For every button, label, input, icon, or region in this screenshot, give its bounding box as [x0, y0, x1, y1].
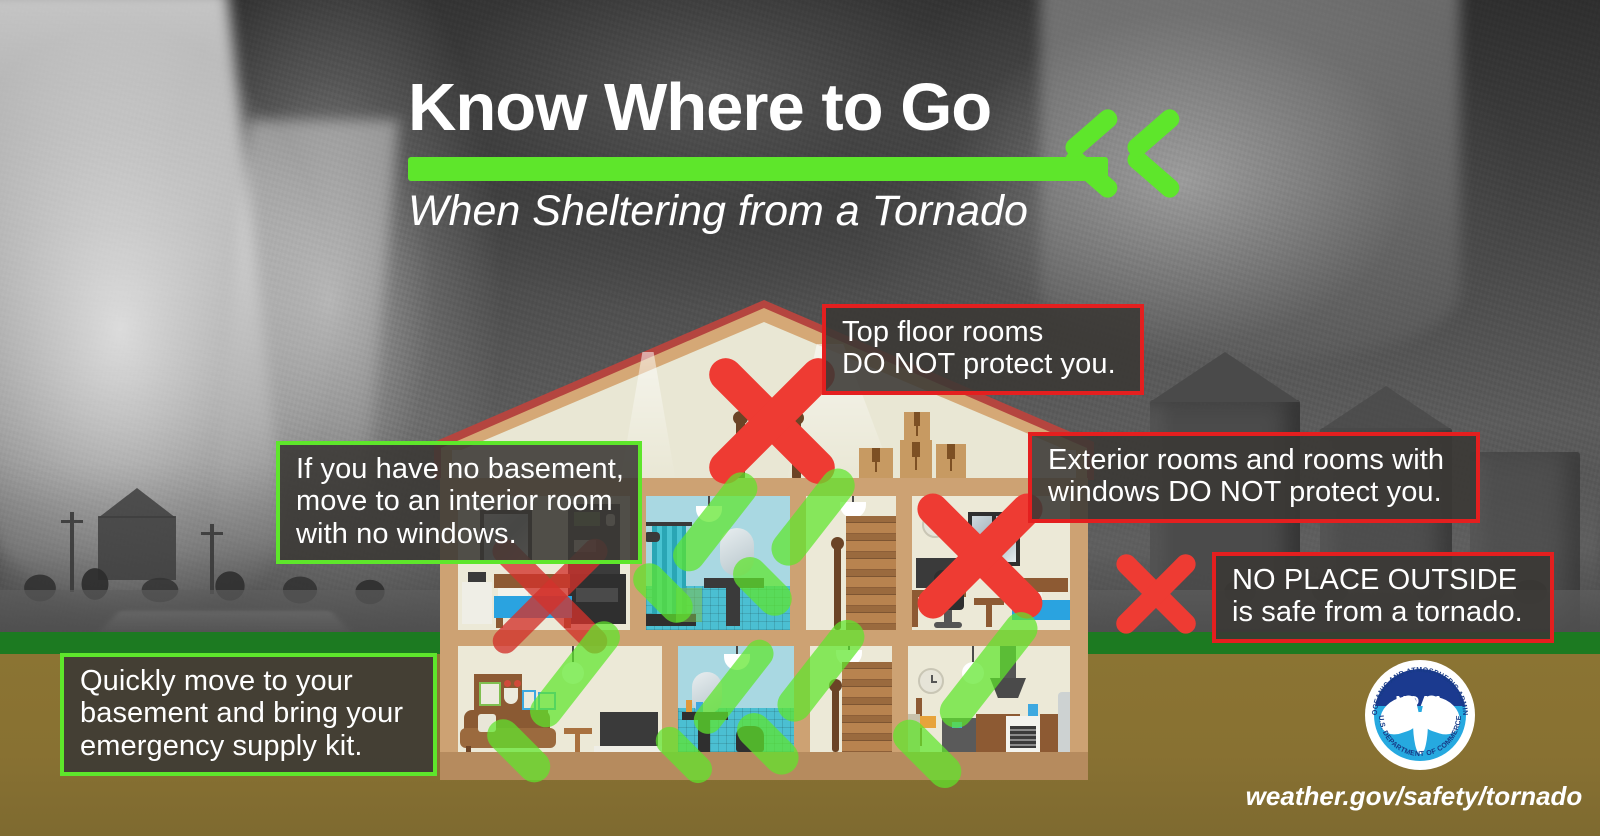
background-farmhouse-roof — [98, 488, 176, 518]
wall-divider-lower-1 — [662, 646, 678, 752]
callout-no-basement-line-3: with no windows. — [296, 518, 624, 550]
room-basement-living — [458, 646, 670, 752]
callout-no-basement-line-2: move to an interior room — [296, 485, 624, 517]
attic-post-2 — [792, 418, 801, 480]
living-flower-right — [514, 680, 521, 687]
storage-box-4 — [936, 444, 966, 478]
storage-box-2 — [900, 440, 932, 478]
living-flower-left — [504, 680, 511, 687]
bed-leg-right — [564, 618, 571, 628]
callout-quickly-line-2: basement and bring your — [80, 697, 419, 729]
callout-no-place-outside: NO PLACE OUTSIDE is safe from a tornado. — [1212, 552, 1554, 643]
callout-top-floor-rooms: Top floor rooms DO NOT protect you. — [822, 304, 1144, 395]
callout-exterior-line-1: Exterior rooms and rooms with — [1048, 444, 1462, 476]
callout-top-floor-line-1: Top floor rooms — [842, 316, 1126, 348]
callout-quickly-move: Quickly move to your basement and bring … — [60, 653, 437, 776]
attic-post-1-knob — [733, 411, 748, 425]
office-side-table — [974, 598, 1004, 605]
kitchen-refrigerator — [1058, 692, 1070, 752]
room-basement-bathroom — [678, 646, 798, 752]
foundation-slab — [440, 752, 1088, 780]
wall-divider-lower-3 — [892, 646, 908, 752]
room-upper-stairwell — [802, 496, 900, 630]
kitchen-oven-grill — [1010, 726, 1036, 748]
bathroom-toilet — [676, 588, 702, 622]
noaa-seal-text: NATIONAL OCEANIC AND ATMOSPHERIC ADMINIS… — [1365, 660, 1475, 770]
kitchen-ceiling-bulb — [962, 662, 984, 684]
kitchen-utensil-jar — [1028, 704, 1038, 716]
living-wall-art-canvas — [479, 682, 501, 706]
attic-post-2-knob — [789, 411, 804, 425]
grain-silo-1-roof — [1150, 352, 1300, 402]
living-sofa-cushion — [478, 714, 496, 732]
living-ceiling-bulb — [562, 662, 584, 684]
kitchen-table — [906, 714, 920, 752]
basement-bath-bottle — [686, 700, 692, 712]
infographic-canvas: Know Where to Go When Sheltering from a … — [0, 0, 1600, 836]
staircase-upper — [846, 516, 900, 630]
living-vase — [504, 688, 518, 704]
bed-headboard — [494, 574, 570, 588]
bathroom-mirror — [720, 528, 754, 576]
office-bed-headboard — [1012, 578, 1068, 592]
office-chair-wheels — [934, 622, 962, 628]
stair-newel-knob-basement — [829, 679, 842, 692]
stair-newel-post-basement — [832, 686, 839, 752]
office-desk-leg — [912, 597, 918, 627]
callout-top-floor-line-2: DO NOT protect you. — [842, 348, 1126, 380]
bedroom-nightstand — [462, 582, 492, 624]
noaa-arc-bottom-text: U.S. DEPARTMENT OF COMMERCE — [1377, 715, 1463, 758]
callout-quickly-line-3: emergency supply kit. — [80, 730, 419, 762]
wall-divider-upper-3 — [896, 496, 912, 630]
storage-box-3 — [904, 412, 930, 442]
kitchen-range-hood-duct — [1000, 646, 1016, 680]
basement-bath-counter — [682, 712, 728, 720]
noaa-arc-top-text: NATIONAL OCEANIC AND ATMOSPHERIC ADMINIS… — [1365, 660, 1469, 716]
dirt-road — [99, 611, 351, 633]
office-chair — [934, 570, 964, 610]
arrow-shaft — [408, 157, 1108, 181]
callout-exterior-rooms: Exterior rooms and rooms with windows DO… — [1028, 432, 1480, 523]
staircase-basement — [842, 662, 896, 752]
room-upper-bathroom — [646, 496, 794, 630]
noaa-logo: NOAA NATIONAL OCEANIC AND ATMOSPHERIC AD… — [1365, 660, 1475, 770]
office-side-table-leg — [986, 605, 992, 627]
bathroom-sink-pedestal — [726, 588, 740, 626]
room-basement-stairwell — [806, 646, 898, 752]
basement-bath-cup — [696, 702, 703, 712]
living-side-table-leg — [575, 734, 580, 752]
bed-mattress — [494, 596, 572, 618]
room-basement-kitchen — [906, 646, 1070, 752]
chevron-right-icon-1 — [1068, 138, 1130, 200]
basement-bath-bulb — [724, 654, 750, 670]
shower-rod — [646, 522, 692, 526]
basement-bath-toilet — [736, 726, 764, 752]
kitchen-range-hood — [990, 678, 1026, 698]
callout-outside-line-1: NO PLACE OUTSIDE — [1232, 564, 1536, 596]
bathroom-ceiling-bulb — [696, 506, 722, 522]
wall-divider-lower-2 — [794, 646, 810, 752]
dresser-drawer — [576, 588, 618, 602]
grain-silo-2-roof — [1320, 386, 1452, 430]
callout-no-basement: If you have no basement, move to an inte… — [276, 441, 642, 564]
stair-newel-knob-upper — [831, 537, 844, 550]
storage-box-1 — [859, 448, 893, 478]
site-url[interactable]: weather.gov/safety/tornado — [1244, 781, 1584, 812]
arrow-rule — [408, 147, 1198, 187]
bathroom-vanity — [704, 578, 764, 588]
header: Know Where to Go When Sheltering from a … — [408, 74, 1208, 234]
floor-slab-mid — [440, 630, 1088, 646]
stair-newel-post-upper — [834, 544, 841, 630]
office-window-mullion-h — [972, 537, 1016, 541]
nightstand-lamp — [468, 572, 486, 582]
living-sofa-seat — [460, 728, 556, 748]
kitchen-dishwasher-light — [952, 722, 962, 728]
wall-divider-upper-2 — [790, 496, 806, 630]
chevron-right-icon-2 — [1130, 138, 1192, 200]
living-photo-frame-1 — [522, 690, 536, 710]
shower-head-icon — [646, 532, 660, 542]
callout-no-basement-line-1: If you have no basement, — [296, 453, 624, 485]
office-wall-clock — [922, 512, 948, 538]
attic-post-1 — [736, 418, 745, 480]
kitchen-wall-clock — [918, 668, 944, 694]
callout-outside-line-2: is safe from a tornado. — [1232, 596, 1536, 628]
callout-quickly-line-1: Quickly move to your — [80, 665, 419, 697]
bed-leg-left — [496, 618, 503, 628]
office-bed-mattress — [1012, 600, 1070, 620]
exterior-wall-right — [1070, 478, 1088, 780]
basement-bath-pedestal — [698, 720, 710, 752]
living-photo-frame-2 — [538, 692, 556, 710]
callout-exterior-line-2: windows DO NOT protect you. — [1048, 476, 1462, 508]
living-television — [600, 712, 658, 746]
